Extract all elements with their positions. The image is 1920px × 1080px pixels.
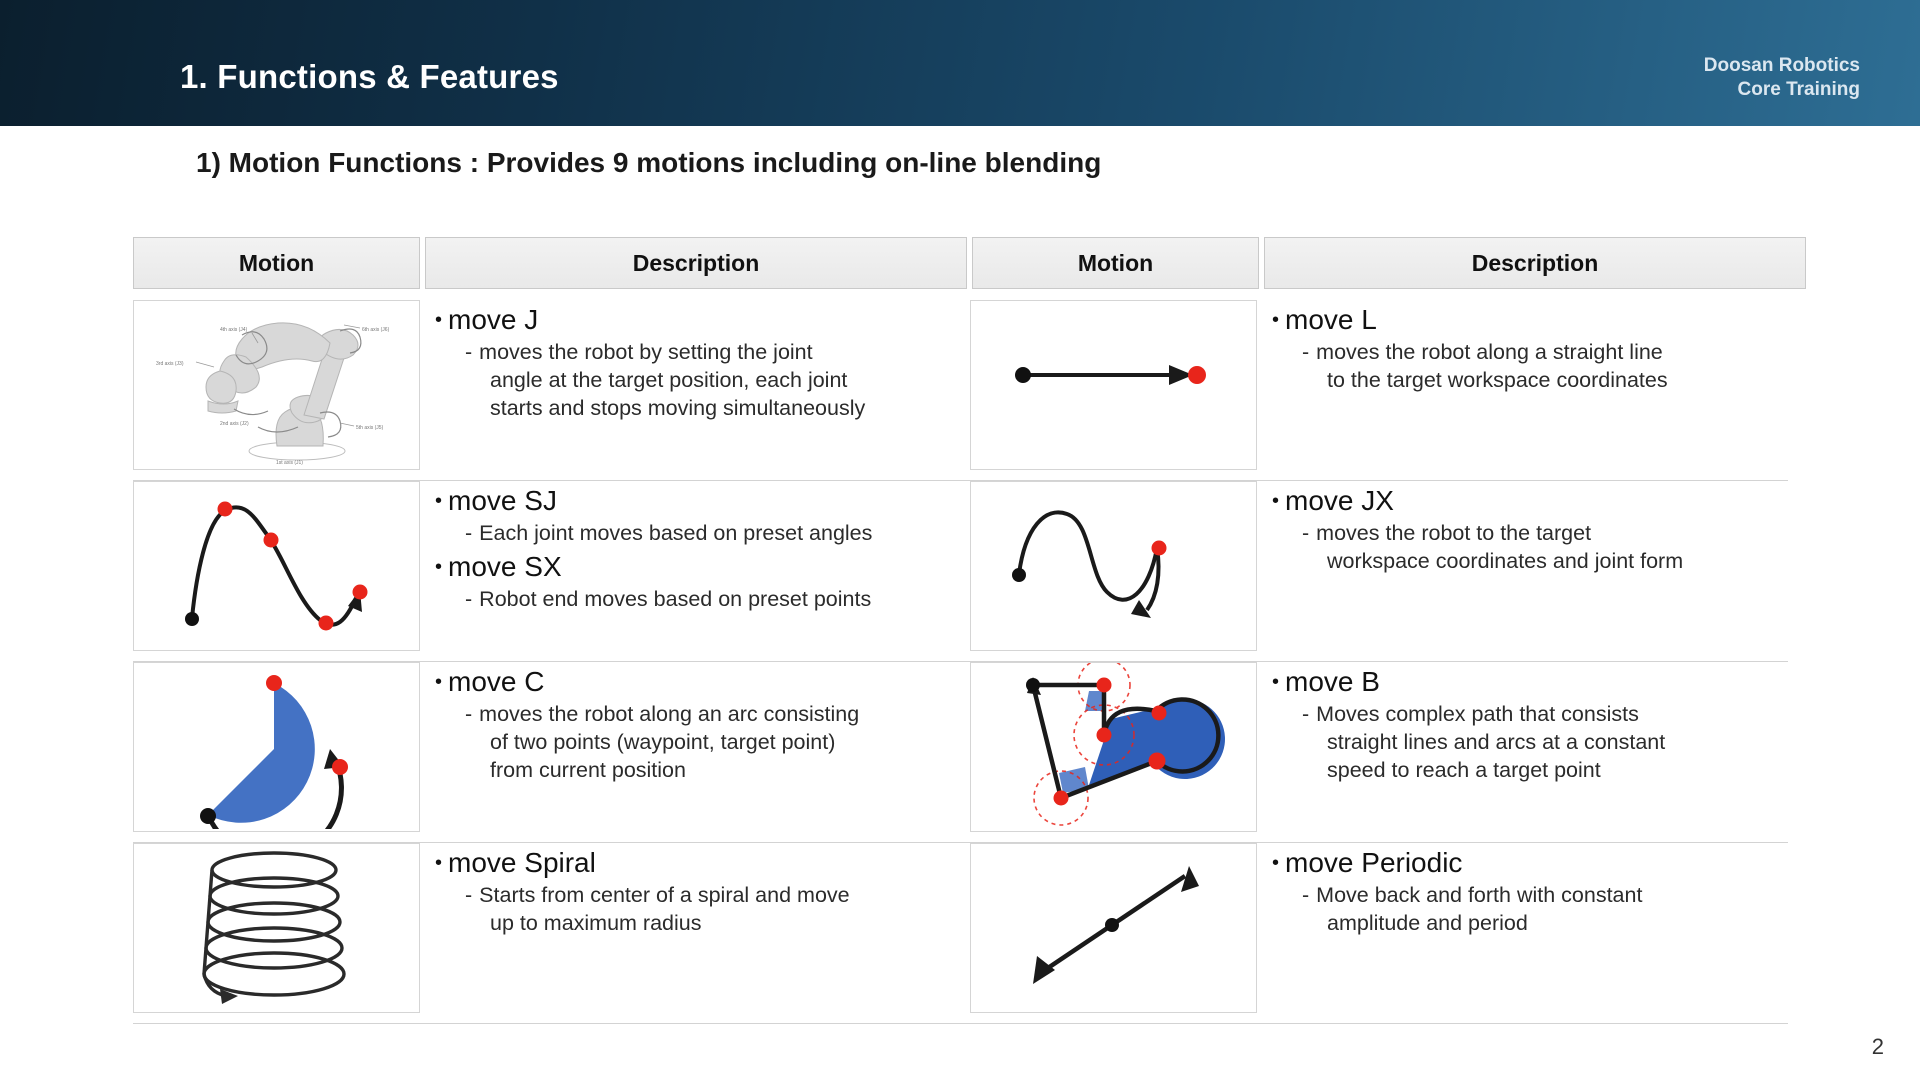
- motion-detail-line: -moves the robot along a straight line: [1272, 338, 1802, 366]
- robot-arm-joint-axes-icon: 6th axis (J6) 5th axis (J5) 4th axis (J4…: [134, 301, 417, 467]
- motion-title: •move L: [1272, 302, 1802, 338]
- column-header-description-left: Description: [425, 237, 967, 289]
- bullet-dot-icon: •: [435, 309, 442, 331]
- dash-icon: -: [1302, 883, 1309, 907]
- page-number: 2: [1872, 1034, 1884, 1060]
- arc-sector-icon: [134, 663, 417, 829]
- diagram-cell-move-periodic: [970, 843, 1257, 1013]
- description-cell-move-spiral: •move Spiral -Starts from center of a sp…: [425, 843, 965, 1013]
- bullet-dot-icon: •: [435, 852, 442, 874]
- motion-title: •move C: [435, 664, 965, 700]
- straight-line-arrow-icon: [971, 301, 1254, 467]
- bullet-dot-icon: •: [1272, 490, 1279, 512]
- brand-line-1: Doosan Robotics: [1704, 54, 1860, 78]
- motion-title: •move SX: [435, 549, 965, 585]
- bullet-dot-icon: •: [435, 671, 442, 693]
- svg-text:5th axis (J5): 5th axis (J5): [356, 425, 384, 431]
- diagram-cell-move-b: [970, 662, 1257, 832]
- column-header-motion-right: Motion: [972, 237, 1259, 289]
- description-cell-move-sj-sx: •move SJ -Each joint moves based on pres…: [425, 481, 965, 651]
- motion-detail-line: -moves the robot to the target: [1272, 519, 1802, 547]
- svg-text:3rd axis (J3): 3rd axis (J3): [156, 361, 184, 367]
- motion-title: •move J: [435, 302, 965, 338]
- diagram-cell-move-j: 6th axis (J6) 5th axis (J5) 4th axis (J4…: [133, 300, 420, 470]
- column-header-description-right: Description: [1264, 237, 1806, 289]
- motion-detail-line: -Move back and forth with constant: [1272, 881, 1802, 909]
- motion-detail-line: straight lines and arcs at a constant: [1272, 728, 1802, 756]
- motion-detail-line: -moves the robot by setting the joint: [435, 338, 965, 366]
- spline-curve-waypoints-icon: [134, 482, 417, 648]
- description-cell-move-j: •move J -moves the robot by setting the …: [425, 300, 965, 470]
- double-arrow-periodic-icon: [971, 844, 1254, 1010]
- dash-icon: -: [1302, 702, 1309, 726]
- brand-block: Doosan Robotics Core Training: [1704, 54, 1860, 102]
- motion-title: •move JX: [1272, 483, 1802, 519]
- table-row: •move C -moves the robot along an arc co…: [133, 662, 1788, 832]
- s-curve-arrow-icon: [971, 482, 1254, 648]
- dash-icon: -: [465, 702, 472, 726]
- dash-icon: -: [465, 587, 472, 611]
- motion-detail-line: -Moves complex path that consists: [1272, 700, 1802, 728]
- motion-detail-line: from current position: [435, 756, 965, 784]
- motion-title: •move SJ: [435, 483, 965, 519]
- dash-icon: -: [465, 340, 472, 364]
- bullet-dot-icon: •: [435, 556, 442, 578]
- description-cell-move-jx: •move JX -moves the robot to the target …: [1262, 481, 1802, 651]
- svg-text:2nd axis (J2): 2nd axis (J2): [220, 421, 249, 427]
- description-cell-move-periodic: •move Periodic -Move back and forth with…: [1262, 843, 1802, 1013]
- motion-title: •move Spiral: [435, 845, 965, 881]
- slide-header: 1. Functions & Features Doosan Robotics …: [0, 0, 1920, 126]
- motion-detail-line: of two points (waypoint, target point): [435, 728, 965, 756]
- table-row: •move SJ -Each joint moves based on pres…: [133, 481, 1788, 651]
- diagram-cell-move-l: [970, 300, 1257, 470]
- svg-text:6th axis (J6): 6th axis (J6): [362, 327, 390, 333]
- table-row: 6th axis (J6) 5th axis (J5) 4th axis (J4…: [133, 300, 1788, 470]
- bullet-dot-icon: •: [1272, 309, 1279, 331]
- diagram-cell-move-spiral: [133, 843, 420, 1013]
- motion-title: •move B: [1272, 664, 1802, 700]
- motion-detail-line: speed to reach a target point: [1272, 756, 1802, 784]
- diagram-cell-move-sj: [133, 481, 420, 651]
- bullet-dot-icon: •: [1272, 671, 1279, 693]
- motion-detail-line: angle at the target position, each joint: [435, 366, 965, 394]
- brand-line-2: Core Training: [1704, 78, 1860, 102]
- column-header-motion-left: Motion: [133, 237, 420, 289]
- spiral-coil-icon: [134, 844, 417, 1010]
- motion-detail-line: -moves the robot along an arc consisting: [435, 700, 965, 728]
- diagram-cell-move-jx: [970, 481, 1257, 651]
- svg-text:1st axis (J1): 1st axis (J1): [276, 460, 303, 466]
- svg-text:4th axis (J4): 4th axis (J4): [220, 327, 248, 333]
- description-cell-move-c: •move C -moves the robot along an arc co…: [425, 662, 965, 832]
- motion-detail-line: to the target workspace coordinates: [1272, 366, 1802, 394]
- motion-detail-line: workspace coordinates and joint form: [1272, 547, 1802, 575]
- dash-icon: -: [465, 883, 472, 907]
- bullet-dot-icon: •: [1272, 852, 1279, 874]
- section-subtitle: 1) Motion Functions : Provides 9 motions…: [196, 147, 1101, 179]
- description-cell-move-b: •move B -Moves complex path that consist…: [1262, 662, 1802, 832]
- page-title: 1. Functions & Features: [180, 58, 559, 96]
- motion-detail-line: amplitude and period: [1272, 909, 1802, 937]
- motion-detail-line: up to maximum radius: [435, 909, 965, 937]
- motion-table: Motion Description Motion Description: [133, 237, 1788, 1013]
- motion-detail-line: -Each joint moves based on preset angles: [435, 519, 965, 547]
- dash-icon: -: [465, 521, 472, 545]
- motion-title: •move Periodic: [1272, 845, 1802, 881]
- motion-detail-line: -Robot end moves based on preset points: [435, 585, 965, 613]
- table-row: •move Spiral -Starts from center of a sp…: [133, 843, 1788, 1013]
- dash-icon: -: [1302, 521, 1309, 545]
- bullet-dot-icon: •: [435, 490, 442, 512]
- dash-icon: -: [1302, 340, 1309, 364]
- motion-detail-line: starts and stops moving simultaneously: [435, 394, 965, 422]
- description-cell-move-l: •move L -moves the robot along a straigh…: [1262, 300, 1802, 470]
- diagram-cell-move-c: [133, 662, 420, 832]
- table-header-row: Motion Description Motion Description: [133, 237, 1788, 289]
- motion-detail-line: -Starts from center of a spiral and move: [435, 881, 965, 909]
- blended-path-icon: [971, 663, 1254, 829]
- row-divider: [133, 1023, 1788, 1024]
